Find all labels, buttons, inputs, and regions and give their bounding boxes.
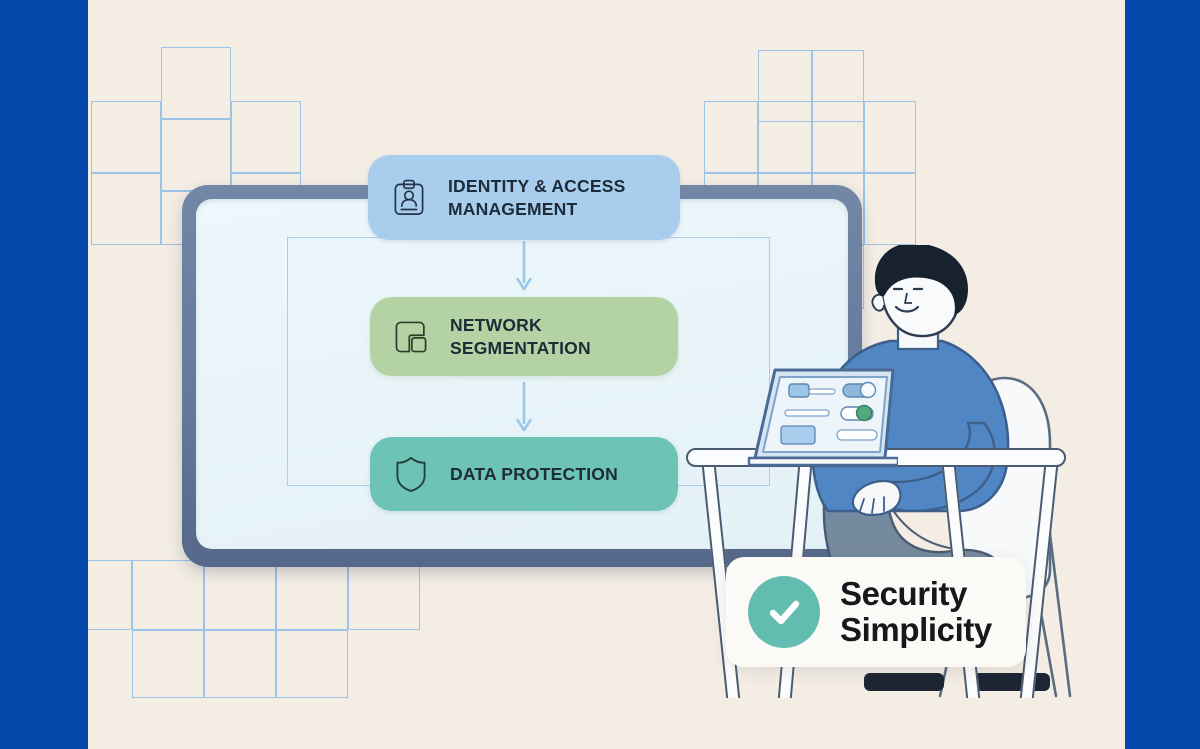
grid-square (91, 101, 161, 173)
flow-card-network-segmentation[interactable]: NETWORK SEGMENTATION (370, 297, 678, 376)
nested-squares-icon (388, 312, 434, 362)
grid-square (348, 560, 420, 630)
grid-square (864, 101, 916, 173)
grid-square (132, 560, 204, 630)
badge-label: Security Simplicity (840, 576, 992, 647)
grid-square (161, 119, 231, 191)
flow-card-label: IDENTITY & ACCESS MANAGEMENT (448, 175, 625, 219)
grid-square (864, 173, 916, 245)
connector-arrow-network-to-data (516, 382, 532, 436)
grid-square (758, 101, 812, 173)
grid-square (204, 560, 276, 630)
right-blue-band (1125, 0, 1200, 749)
flow-card-identity-access-management[interactable]: IDENTITY & ACCESS MANAGEMENT (368, 155, 680, 240)
flow-card-label: NETWORK SEGMENTATION (450, 314, 591, 358)
grid-square (276, 630, 348, 698)
connector-arrow-iam-to-network (516, 241, 532, 295)
check-circle-icon (748, 576, 820, 648)
security-simplicity-badge: Security Simplicity (726, 557, 1026, 667)
grid-square (812, 101, 864, 173)
illustration-canvas: IDENTITY & ACCESS MANAGEMENT NETWORK SEG… (0, 0, 1200, 749)
grid-square (704, 101, 758, 173)
laptop-with-settings-toggles[interactable] (733, 362, 898, 467)
id-badge-icon (386, 173, 432, 223)
flow-card-label: DATA PROTECTION (450, 463, 618, 485)
left-blue-band (0, 0, 88, 749)
flow-card-data-protection[interactable]: DATA PROTECTION (370, 437, 678, 511)
grid-square (231, 101, 301, 173)
shield-icon (388, 449, 434, 499)
grid-square (276, 560, 348, 630)
grid-square (204, 630, 276, 698)
grid-square (91, 173, 161, 245)
grid-square (88, 560, 132, 630)
grid-square (132, 630, 204, 698)
grid-square (161, 47, 231, 119)
illustration-stage: IDENTITY & ACCESS MANAGEMENT NETWORK SEG… (88, 0, 1125, 749)
